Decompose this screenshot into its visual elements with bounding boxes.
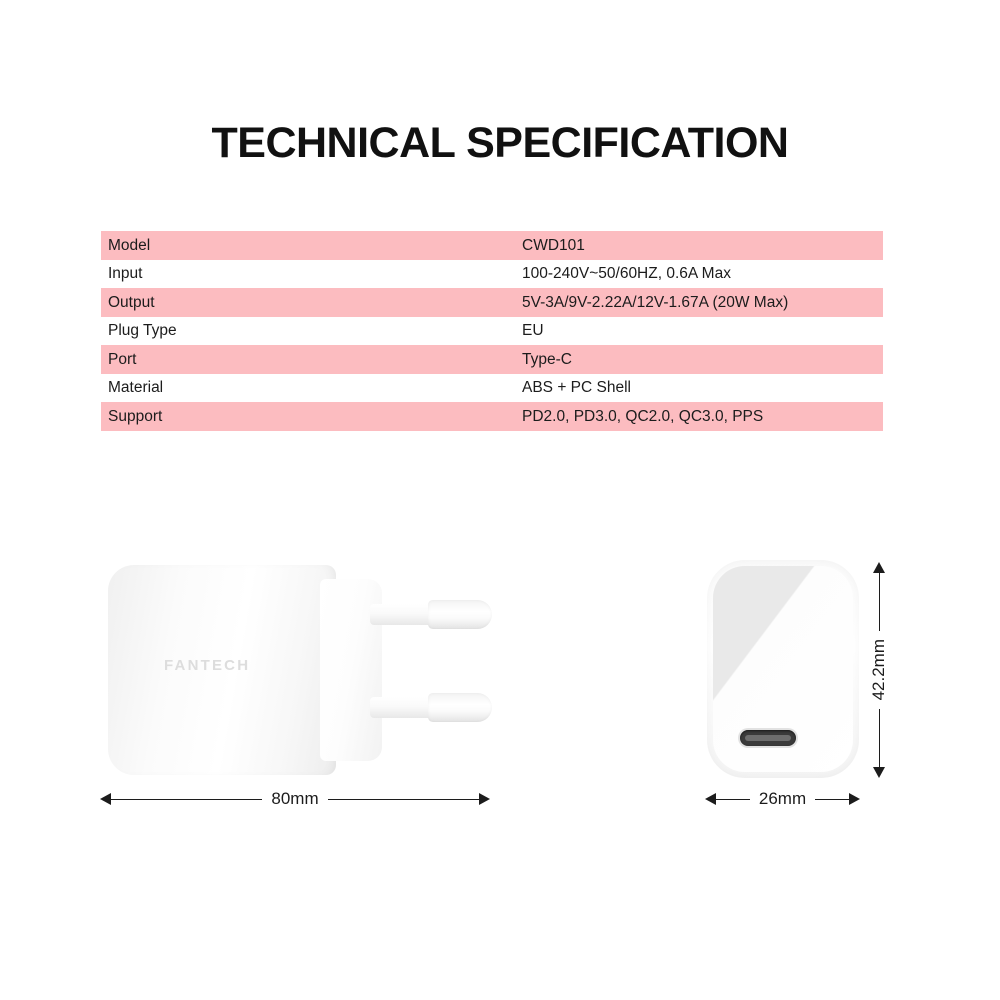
dimension-line-right [815, 799, 849, 800]
dimension-line-top [879, 573, 880, 631]
spec-row-key: Support [101, 402, 515, 431]
spec-row-key: Port [101, 345, 515, 374]
product-figures: FANTECH 80mm 26mm [0, 520, 1000, 840]
charger-body-front [707, 560, 859, 778]
arrow-down-icon [873, 767, 885, 778]
spec-row-key: Input [101, 260, 515, 289]
charger-front-view [707, 560, 859, 778]
arrow-left-icon [100, 793, 111, 805]
dimension-line-right [328, 799, 479, 800]
spec-row: SupportPD2.0, PD3.0, QC2.0, QC3.0, PPS [101, 402, 883, 431]
spec-row-value: 100-240V~50/60HZ, 0.6A Max [515, 260, 883, 289]
plug-prong-top [370, 600, 492, 629]
usb-c-port-icon [740, 730, 796, 746]
dimension-line-left [111, 799, 262, 800]
spec-row: ModelCWD101 [101, 231, 883, 260]
dimension-label-width-side: 80mm [262, 789, 327, 809]
prong-tip-bottom [428, 693, 492, 722]
spec-row: MaterialABS + PC Shell [101, 374, 883, 403]
arrow-up-icon [873, 562, 885, 573]
prong-tip-top [428, 600, 492, 629]
page-title: TECHNICAL SPECIFICATION [0, 119, 1000, 168]
dimension-width-80mm: 80mm [100, 788, 490, 810]
dimension-height-42mm: 42.2mm [868, 562, 890, 778]
specification-table-body: ModelCWD101Input100-240V~50/60HZ, 0.6A M… [101, 231, 883, 431]
charger-side-view: FANTECH [108, 565, 393, 775]
spec-row-key: Plug Type [101, 317, 515, 346]
arrow-right-icon [479, 793, 490, 805]
dimension-label-height-front: 42.2mm [869, 631, 889, 708]
spec-row-value: 5V-3A/9V-2.22A/12V-1.67A (20W Max) [515, 288, 883, 317]
spec-row-value: EU [515, 317, 883, 346]
dimension-line-bottom [879, 709, 880, 767]
spec-row: Plug TypeEU [101, 317, 883, 346]
spec-row: Output5V-3A/9V-2.22A/12V-1.67A (20W Max) [101, 288, 883, 317]
spec-row-value: ABS + PC Shell [515, 374, 883, 403]
spec-row-key: Model [101, 231, 515, 260]
charger-body-side: FANTECH [108, 565, 336, 775]
arrow-right-icon [849, 793, 860, 805]
plug-prong-bottom [370, 693, 492, 722]
spec-row: Input100-240V~50/60HZ, 0.6A Max [101, 260, 883, 289]
arrow-left-icon [705, 793, 716, 805]
spec-row: PortType-C [101, 345, 883, 374]
spec-row-value: CWD101 [515, 231, 883, 260]
spec-row-key: Material [101, 374, 515, 403]
specification-table: ModelCWD101Input100-240V~50/60HZ, 0.6A M… [101, 231, 883, 431]
spec-row-value: Type-C [515, 345, 883, 374]
spec-row-value: PD2.0, PD3.0, QC2.0, QC3.0, PPS [515, 402, 883, 431]
dimension-line-left [716, 799, 750, 800]
dimension-label-width-front: 26mm [750, 789, 815, 809]
fantech-brand-logo: FANTECH [164, 657, 250, 674]
spec-row-key: Output [101, 288, 515, 317]
dimension-width-26mm: 26mm [705, 788, 860, 810]
